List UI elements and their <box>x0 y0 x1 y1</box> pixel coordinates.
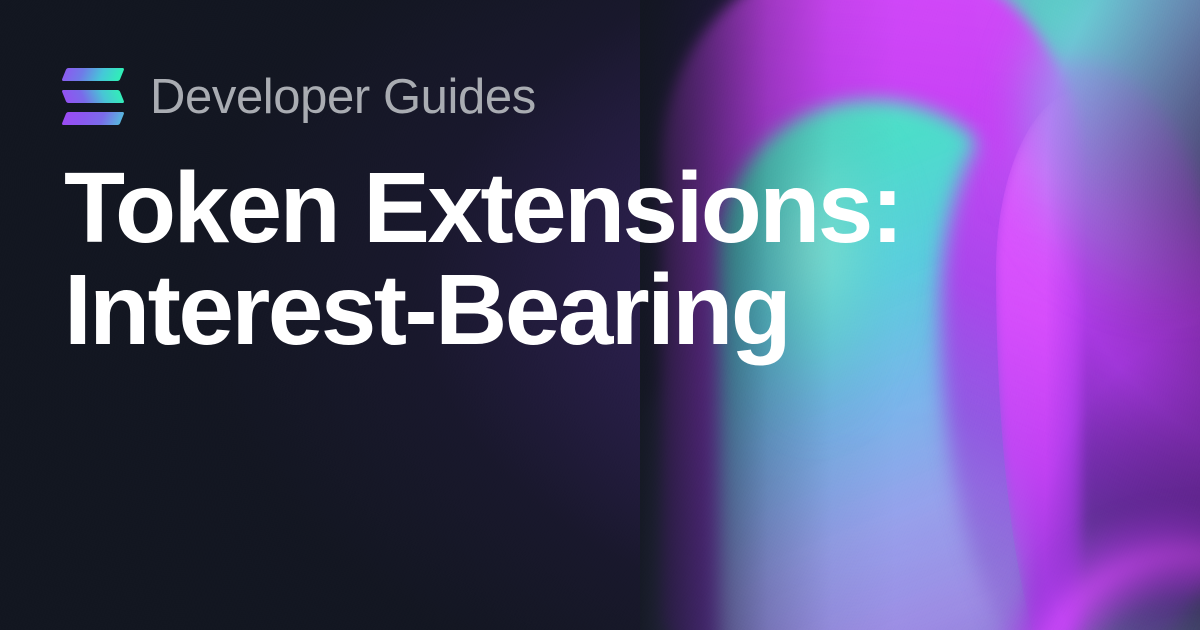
og-card: Developer Guides Token Extensions: Inter… <box>0 0 1200 630</box>
brand-row: Developer Guides <box>64 66 536 128</box>
page-title-line-1: Token Extensions: <box>64 158 964 258</box>
solana-logo-bar-bottom <box>61 112 124 125</box>
content-area: Developer Guides Token Extensions: Inter… <box>64 0 1064 630</box>
solana-logo-icon <box>64 66 122 128</box>
brand-label: Developer Guides <box>150 73 536 122</box>
page-title: Token Extensions: Interest-Bearing <box>64 158 964 360</box>
solana-logo-bar-middle <box>61 90 124 103</box>
page-title-line-2: Interest-Bearing <box>64 260 964 360</box>
solana-logo-bar-top <box>61 68 124 81</box>
